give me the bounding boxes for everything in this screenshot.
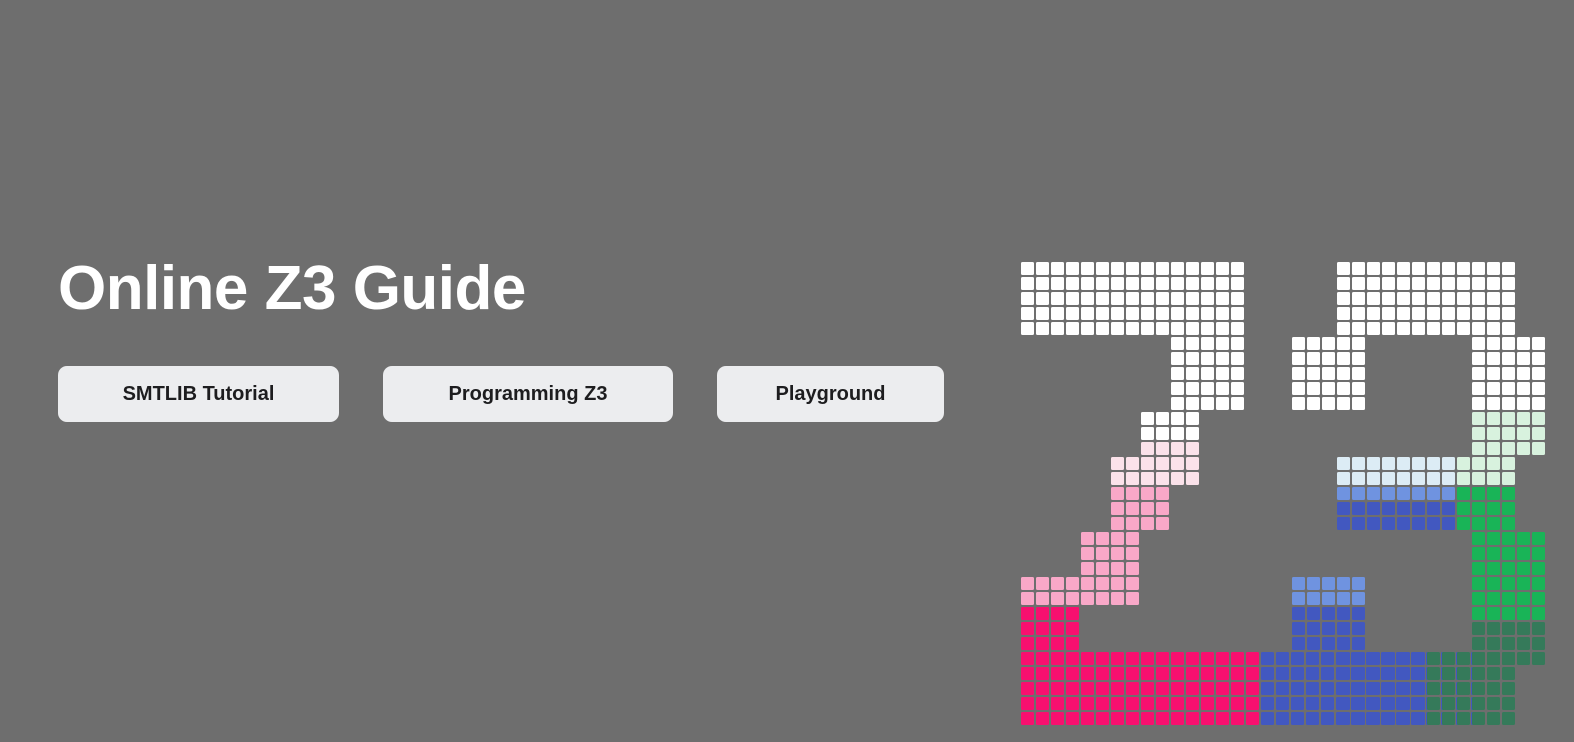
logo-pixel bbox=[1051, 637, 1064, 650]
logo-pixel bbox=[1156, 412, 1169, 425]
logo-pixel bbox=[1382, 652, 1395, 665]
logo-pixel bbox=[1126, 292, 1139, 305]
logo-pixel bbox=[1066, 592, 1079, 605]
logo-pixel bbox=[1111, 457, 1124, 470]
logo-pixel bbox=[1156, 517, 1169, 530]
logo-pixel bbox=[1201, 322, 1214, 335]
logo-pixel bbox=[1081, 262, 1094, 275]
logo-pixel bbox=[1216, 712, 1229, 725]
logo-pixel bbox=[1337, 472, 1350, 485]
logo-pixel bbox=[1352, 322, 1365, 335]
logo-pixel bbox=[1156, 682, 1169, 695]
logo-pixel bbox=[1141, 307, 1154, 320]
logo-pixel bbox=[1502, 412, 1515, 425]
logo-pixel bbox=[1517, 607, 1530, 620]
logo-pixel bbox=[1216, 367, 1229, 380]
logo-pixel bbox=[1216, 352, 1229, 365]
logo-pixel bbox=[1532, 337, 1545, 350]
logo-pixel bbox=[1322, 637, 1335, 650]
logo-pixel bbox=[1156, 262, 1169, 275]
logo-pixel bbox=[1141, 472, 1154, 485]
logo-pixel bbox=[1337, 367, 1350, 380]
logo-pixel bbox=[1337, 712, 1350, 725]
logo-pixel bbox=[1261, 667, 1274, 680]
logo-pixel bbox=[1306, 652, 1319, 665]
logo-pixel bbox=[1186, 427, 1199, 440]
logo-pixel bbox=[1397, 322, 1410, 335]
logo-pixel bbox=[1306, 697, 1319, 710]
logo-pixel bbox=[1156, 427, 1169, 440]
logo-pixel bbox=[1171, 457, 1184, 470]
logo-pixel bbox=[1472, 307, 1485, 320]
logo-pixel bbox=[1412, 712, 1425, 725]
logo-pixel bbox=[1472, 412, 1485, 425]
logo-pixel bbox=[1352, 262, 1365, 275]
logo-pixel bbox=[1171, 307, 1184, 320]
logo-pixel bbox=[1382, 517, 1395, 530]
logo-pixel bbox=[1502, 682, 1515, 695]
logo-pixel bbox=[1427, 697, 1440, 710]
logo-pixel bbox=[1156, 667, 1169, 680]
logo-pixel bbox=[1126, 277, 1139, 290]
logo-pixel bbox=[1352, 307, 1365, 320]
logo-pixel bbox=[1487, 487, 1500, 500]
logo-pixel bbox=[1442, 487, 1455, 500]
logo-pixel bbox=[1352, 517, 1365, 530]
logo-pixel bbox=[1457, 502, 1470, 515]
programming-z3-button[interactable]: Programming Z3 bbox=[383, 366, 673, 422]
logo-pixel bbox=[1337, 457, 1350, 470]
logo-pixel bbox=[1487, 682, 1500, 695]
logo-pixel bbox=[1126, 592, 1139, 605]
logo-pixel bbox=[1487, 562, 1500, 575]
logo-pixel bbox=[1337, 607, 1350, 620]
logo-pixel bbox=[1111, 307, 1124, 320]
logo-pixel bbox=[1231, 367, 1244, 380]
logo-pixel bbox=[1216, 262, 1229, 275]
logo-pixel bbox=[1517, 337, 1530, 350]
logo-pixel bbox=[1487, 262, 1500, 275]
logo-pixel bbox=[1036, 577, 1049, 590]
logo-pixel bbox=[1066, 577, 1079, 590]
logo-pixel bbox=[1517, 637, 1530, 650]
logo-pixel bbox=[1487, 517, 1500, 530]
logo-pixel bbox=[1096, 277, 1109, 290]
logo-pixel bbox=[1487, 592, 1500, 605]
logo-pixel bbox=[1081, 322, 1094, 335]
logo-pixel bbox=[1036, 277, 1049, 290]
logo-pixel bbox=[1186, 457, 1199, 470]
logo-pixel bbox=[1292, 592, 1305, 605]
logo-pixel bbox=[1066, 307, 1079, 320]
logo-pixel bbox=[1216, 652, 1229, 665]
logo-pixel bbox=[1397, 682, 1410, 695]
logo-pixel bbox=[1382, 697, 1395, 710]
logo-pixel bbox=[1367, 457, 1380, 470]
logo-pixel bbox=[1352, 652, 1365, 665]
logo-pixel bbox=[1517, 397, 1530, 410]
logo-pixel bbox=[1201, 652, 1214, 665]
logo-pixel bbox=[1201, 352, 1214, 365]
logo-pixel bbox=[1412, 517, 1425, 530]
logo-pixel bbox=[1532, 397, 1545, 410]
logo-pixel bbox=[1276, 697, 1289, 710]
logo-pixel bbox=[1111, 562, 1124, 575]
logo-pixel bbox=[1036, 697, 1049, 710]
logo-pixel bbox=[1186, 322, 1199, 335]
logo-pixel bbox=[1487, 427, 1500, 440]
logo-pixel bbox=[1231, 262, 1244, 275]
logo-pixel bbox=[1051, 292, 1064, 305]
logo-pixel bbox=[1322, 382, 1335, 395]
logo-pixel bbox=[1081, 577, 1094, 590]
logo-pixel bbox=[1337, 322, 1350, 335]
logo-pixel bbox=[1337, 682, 1350, 695]
logo-pixel bbox=[1201, 667, 1214, 680]
logo-pixel bbox=[1096, 292, 1109, 305]
logo-pixel bbox=[1457, 652, 1470, 665]
logo-pixel bbox=[1517, 412, 1530, 425]
logo-pixel bbox=[1171, 667, 1184, 680]
logo-pixel bbox=[1337, 652, 1350, 665]
logo-pixel bbox=[1321, 712, 1334, 725]
logo-pixel bbox=[1472, 682, 1485, 695]
logo-pixel bbox=[1502, 472, 1515, 485]
logo-pixel bbox=[1186, 682, 1199, 695]
logo-pixel bbox=[1036, 607, 1049, 620]
logo-pixel bbox=[1096, 577, 1109, 590]
logo-pixel bbox=[1337, 397, 1350, 410]
logo-pixel bbox=[1502, 397, 1515, 410]
logo-pixel bbox=[1397, 487, 1410, 500]
logo-pixel bbox=[1502, 517, 1515, 530]
logo-pixel bbox=[1457, 667, 1470, 680]
logo-pixel bbox=[1081, 652, 1094, 665]
logo-pixel bbox=[1126, 712, 1139, 725]
logo-pixel bbox=[1367, 277, 1380, 290]
logo-pixel bbox=[1487, 712, 1500, 725]
logo-pixel bbox=[1096, 307, 1109, 320]
logo-pixel bbox=[1472, 487, 1485, 500]
logo-pixel bbox=[1382, 322, 1395, 335]
logo-pixel bbox=[1337, 697, 1350, 710]
logo-pixel bbox=[1171, 652, 1184, 665]
logo-pixel bbox=[1156, 502, 1169, 515]
logo-pixel bbox=[1502, 667, 1515, 680]
logo-pixel bbox=[1126, 502, 1139, 515]
logo-pixel bbox=[1111, 262, 1124, 275]
logo-pixel bbox=[1171, 397, 1184, 410]
logo-pixel bbox=[1321, 697, 1334, 710]
logo-pixel bbox=[1412, 322, 1425, 335]
logo-pixel bbox=[1502, 292, 1515, 305]
logo-pixel bbox=[1397, 292, 1410, 305]
logo-pixel bbox=[1472, 622, 1485, 635]
logo-pixel bbox=[1141, 262, 1154, 275]
logo-pixel bbox=[1487, 697, 1500, 710]
logo-pixel bbox=[1291, 682, 1304, 695]
logo-pixel bbox=[1337, 262, 1350, 275]
logo-pixel bbox=[1337, 307, 1350, 320]
logo-pixel bbox=[1472, 337, 1485, 350]
logo-pixel bbox=[1246, 697, 1259, 710]
logo-pixel bbox=[1367, 667, 1380, 680]
logo-pixel bbox=[1231, 682, 1244, 695]
logo-pixel bbox=[1307, 637, 1320, 650]
logo-pixel bbox=[1231, 652, 1244, 665]
logo-pixel bbox=[1156, 277, 1169, 290]
logo-pixel bbox=[1066, 262, 1079, 275]
logo-pixel bbox=[1442, 682, 1455, 695]
logo-pixel bbox=[1502, 367, 1515, 380]
logo-pixel bbox=[1472, 472, 1485, 485]
logo-pixel bbox=[1322, 607, 1335, 620]
logo-pixel bbox=[1141, 712, 1154, 725]
logo-pixel bbox=[1532, 622, 1545, 635]
logo-pixel bbox=[1322, 397, 1335, 410]
logo-pixel bbox=[1517, 652, 1530, 665]
logo-pixel bbox=[1081, 667, 1094, 680]
logo-pixel bbox=[1427, 472, 1440, 485]
logo-pixel bbox=[1532, 562, 1545, 575]
logo-pixel bbox=[1171, 262, 1184, 275]
logo-pixel bbox=[1096, 562, 1109, 575]
logo-pixel bbox=[1427, 487, 1440, 500]
logo-pixel bbox=[1036, 622, 1049, 635]
logo-pixel bbox=[1051, 682, 1064, 695]
logo-pixel bbox=[1201, 397, 1214, 410]
logo-pixel bbox=[1472, 667, 1485, 680]
logo-pixel bbox=[1412, 667, 1425, 680]
logo-pixel bbox=[1352, 592, 1365, 605]
logo-pixel bbox=[1291, 712, 1304, 725]
logo-pixel bbox=[1201, 337, 1214, 350]
logo-pixel bbox=[1081, 532, 1094, 545]
logo-pixel bbox=[1126, 532, 1139, 545]
logo-pixel bbox=[1141, 697, 1154, 710]
logo-pixel bbox=[1096, 682, 1109, 695]
logo-pixel bbox=[1397, 307, 1410, 320]
logo-pixel bbox=[1532, 352, 1545, 365]
logo-pixel bbox=[1231, 697, 1244, 710]
logo-pixel bbox=[1502, 712, 1515, 725]
logo-pixel bbox=[1487, 382, 1500, 395]
logo-pixel bbox=[1096, 322, 1109, 335]
logo-pixel bbox=[1442, 652, 1455, 665]
logo-pixel bbox=[1382, 307, 1395, 320]
logo-pixel bbox=[1156, 652, 1169, 665]
logo-pixel bbox=[1397, 517, 1410, 530]
logo-pixel bbox=[1442, 712, 1455, 725]
logo-pixel bbox=[1051, 667, 1064, 680]
logo-pixel bbox=[1021, 712, 1034, 725]
logo-pixel bbox=[1141, 292, 1154, 305]
logo-pixel bbox=[1126, 652, 1139, 665]
logo-pixel bbox=[1111, 547, 1124, 560]
logo-pixel bbox=[1126, 262, 1139, 275]
logo-pixel bbox=[1442, 667, 1455, 680]
logo-pixel bbox=[1532, 592, 1545, 605]
logo-pixel bbox=[1472, 697, 1485, 710]
logo-pixel bbox=[1487, 607, 1500, 620]
logo-pixel bbox=[1307, 337, 1320, 350]
logo-pixel bbox=[1126, 307, 1139, 320]
logo-pixel bbox=[1367, 307, 1380, 320]
logo-pixel bbox=[1126, 322, 1139, 335]
logo-pixel bbox=[1186, 307, 1199, 320]
logo-pixel bbox=[1352, 607, 1365, 620]
logo-pixel bbox=[1021, 592, 1034, 605]
logo-pixel bbox=[1141, 517, 1154, 530]
logo-pixel bbox=[1051, 652, 1064, 665]
logo-pixel bbox=[1111, 667, 1124, 680]
logo-pixel bbox=[1141, 487, 1154, 500]
logo-pixel bbox=[1292, 637, 1305, 650]
logo-pixel bbox=[1472, 352, 1485, 365]
logo-pixel bbox=[1502, 532, 1515, 545]
logo-pixel bbox=[1096, 262, 1109, 275]
logo-pixel bbox=[1487, 637, 1500, 650]
logo-pixel bbox=[1096, 667, 1109, 680]
logo-pixel bbox=[1066, 277, 1079, 290]
logo-pixel bbox=[1126, 682, 1139, 695]
logo-pixel bbox=[1517, 562, 1530, 575]
logo-pixel bbox=[1397, 712, 1410, 725]
logo-pixel bbox=[1036, 637, 1049, 650]
logo-pixel bbox=[1352, 487, 1365, 500]
logo-pixel bbox=[1472, 367, 1485, 380]
logo-pixel bbox=[1036, 262, 1049, 275]
logo-pixel bbox=[1382, 667, 1395, 680]
logo-pixel bbox=[1367, 502, 1380, 515]
logo-pixel bbox=[1171, 412, 1184, 425]
logo-pixel bbox=[1352, 577, 1365, 590]
logo-pixel bbox=[1306, 712, 1319, 725]
logo-pixel bbox=[1532, 532, 1545, 545]
logo-pixel bbox=[1051, 697, 1064, 710]
logo-pixel bbox=[1096, 532, 1109, 545]
logo-pixel bbox=[1532, 652, 1545, 665]
logo-pixel bbox=[1502, 262, 1515, 275]
logo-pixel bbox=[1472, 652, 1485, 665]
logo-pixel bbox=[1487, 367, 1500, 380]
logo-pixel bbox=[1472, 607, 1485, 620]
logo-pixel bbox=[1201, 712, 1214, 725]
logo-pixel bbox=[1081, 592, 1094, 605]
logo-pixel bbox=[1487, 502, 1500, 515]
logo-pixel bbox=[1201, 382, 1214, 395]
logo-pixel bbox=[1502, 637, 1515, 650]
logo-pixel bbox=[1472, 577, 1485, 590]
logo-pixel bbox=[1111, 277, 1124, 290]
logo-pixel bbox=[1321, 667, 1334, 680]
logo-pixel bbox=[1111, 532, 1124, 545]
logo-pixel bbox=[1292, 382, 1305, 395]
logo-pixel bbox=[1066, 292, 1079, 305]
logo-pixel bbox=[1246, 682, 1259, 695]
logo-pixel bbox=[1186, 277, 1199, 290]
logo-pixel bbox=[1322, 622, 1335, 635]
logo-pixel bbox=[1382, 502, 1395, 515]
logo-pixel bbox=[1111, 322, 1124, 335]
logo-pixel bbox=[1216, 292, 1229, 305]
logo-pixel bbox=[1412, 472, 1425, 485]
logo-pixel bbox=[1472, 262, 1485, 275]
logo-pixel bbox=[1397, 277, 1410, 290]
logo-pixel bbox=[1111, 502, 1124, 515]
logo-pixel bbox=[1322, 577, 1335, 590]
logo-pixel bbox=[1321, 682, 1334, 695]
logo-pixel bbox=[1322, 592, 1335, 605]
logo-pixel bbox=[1307, 367, 1320, 380]
logo-pixel bbox=[1231, 712, 1244, 725]
logo-pixel bbox=[1382, 262, 1395, 275]
logo-pixel bbox=[1367, 322, 1380, 335]
logo-pixel bbox=[1337, 337, 1350, 350]
logo-pixel bbox=[1201, 307, 1214, 320]
logo-pixel bbox=[1457, 487, 1470, 500]
smtlib-tutorial-button[interactable]: SMTLIB Tutorial bbox=[58, 366, 339, 422]
logo-pixel bbox=[1322, 352, 1335, 365]
logo-pixel bbox=[1502, 307, 1515, 320]
logo-pixel bbox=[1502, 457, 1515, 470]
logo-pixel bbox=[1036, 712, 1049, 725]
logo-pixel bbox=[1352, 472, 1365, 485]
logo-pixel bbox=[1111, 577, 1124, 590]
logo-pixel bbox=[1502, 547, 1515, 560]
logo-pixel bbox=[1367, 682, 1380, 695]
logo-pixel bbox=[1186, 262, 1199, 275]
logo-pixel bbox=[1141, 322, 1154, 335]
logo-pixel bbox=[1231, 307, 1244, 320]
logo-pixel bbox=[1427, 712, 1440, 725]
logo-pixel bbox=[1412, 292, 1425, 305]
playground-button[interactable]: Playground bbox=[717, 366, 944, 422]
logo-pixel bbox=[1111, 292, 1124, 305]
logo-pixel bbox=[1261, 652, 1274, 665]
logo-pixel bbox=[1367, 517, 1380, 530]
logo-pixel bbox=[1171, 382, 1184, 395]
logo-pixel bbox=[1171, 697, 1184, 710]
logo-pixel bbox=[1111, 487, 1124, 500]
logo-pixel bbox=[1472, 277, 1485, 290]
logo-pixel bbox=[1412, 487, 1425, 500]
logo-pixel bbox=[1352, 457, 1365, 470]
logo-pixel bbox=[1487, 412, 1500, 425]
logo-pixel bbox=[1276, 712, 1289, 725]
logo-pixel bbox=[1487, 322, 1500, 335]
logo-pixel bbox=[1307, 592, 1320, 605]
logo-pixel bbox=[1517, 592, 1530, 605]
logo-pixel bbox=[1036, 307, 1049, 320]
logo-pixel bbox=[1156, 322, 1169, 335]
logo-pixel bbox=[1021, 622, 1034, 635]
logo-pixel bbox=[1412, 697, 1425, 710]
logo-pixel bbox=[1292, 337, 1305, 350]
logo-pixel bbox=[1502, 427, 1515, 440]
logo-pixel bbox=[1352, 337, 1365, 350]
logo-pixel bbox=[1352, 697, 1365, 710]
logo-pixel bbox=[1442, 292, 1455, 305]
logo-pixel bbox=[1156, 697, 1169, 710]
logo-pixel bbox=[1457, 472, 1470, 485]
logo-pixel bbox=[1171, 427, 1184, 440]
logo-pixel bbox=[1427, 682, 1440, 695]
logo-pixel bbox=[1382, 292, 1395, 305]
logo-pixel bbox=[1487, 472, 1500, 485]
logo-pixel bbox=[1126, 577, 1139, 590]
logo-pixel bbox=[1186, 367, 1199, 380]
